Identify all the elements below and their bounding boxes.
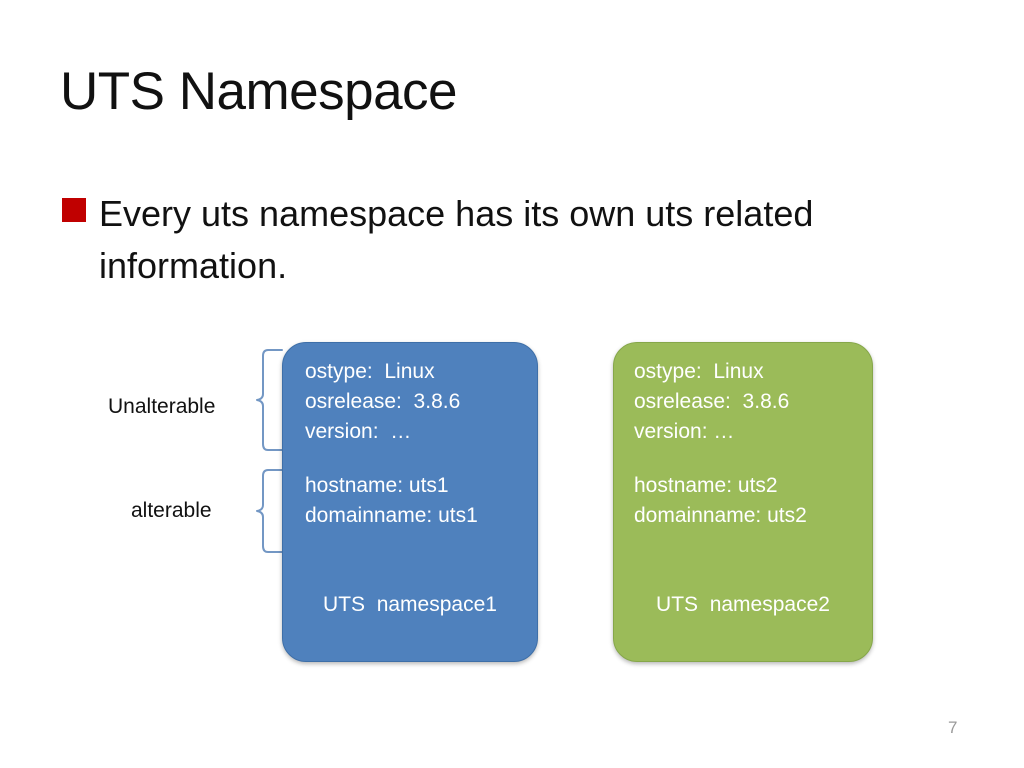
bullet-text: Every uts namespace has its own uts rela… <box>99 188 929 292</box>
namespace1-caption: UTS namespace1 <box>283 591 537 619</box>
page-title: UTS Namespace <box>60 62 457 122</box>
label-unalterable: Unalterable <box>108 394 215 420</box>
bullet-square-icon <box>62 198 86 222</box>
page-number: 7 <box>948 718 957 738</box>
slide-canvas: UTS Namespace Every uts namespace has it… <box>0 0 1024 768</box>
namespace2-caption: UTS namespace2 <box>614 591 872 619</box>
uts-namespace1-box: ostype: Linux osrelease: 3.8.6 version: … <box>282 342 538 662</box>
namespace1-alterable-fields: hostname: uts1 domainname: uts1 <box>305 471 478 531</box>
uts-namespace2-box: ostype: Linux osrelease: 3.8.6 version: … <box>613 342 873 662</box>
label-alterable: alterable <box>131 498 212 524</box>
brace-alterable-icon <box>252 468 284 554</box>
brace-unalterable-icon <box>252 348 284 452</box>
namespace2-alterable-fields: hostname: uts2 domainname: uts2 <box>634 471 807 531</box>
namespace2-unalterable-fields: ostype: Linux osrelease: 3.8.6 version: … <box>634 357 789 447</box>
bullet-item: Every uts namespace has its own uts rela… <box>62 188 952 292</box>
namespace1-unalterable-fields: ostype: Linux osrelease: 3.8.6 version: … <box>305 357 460 447</box>
